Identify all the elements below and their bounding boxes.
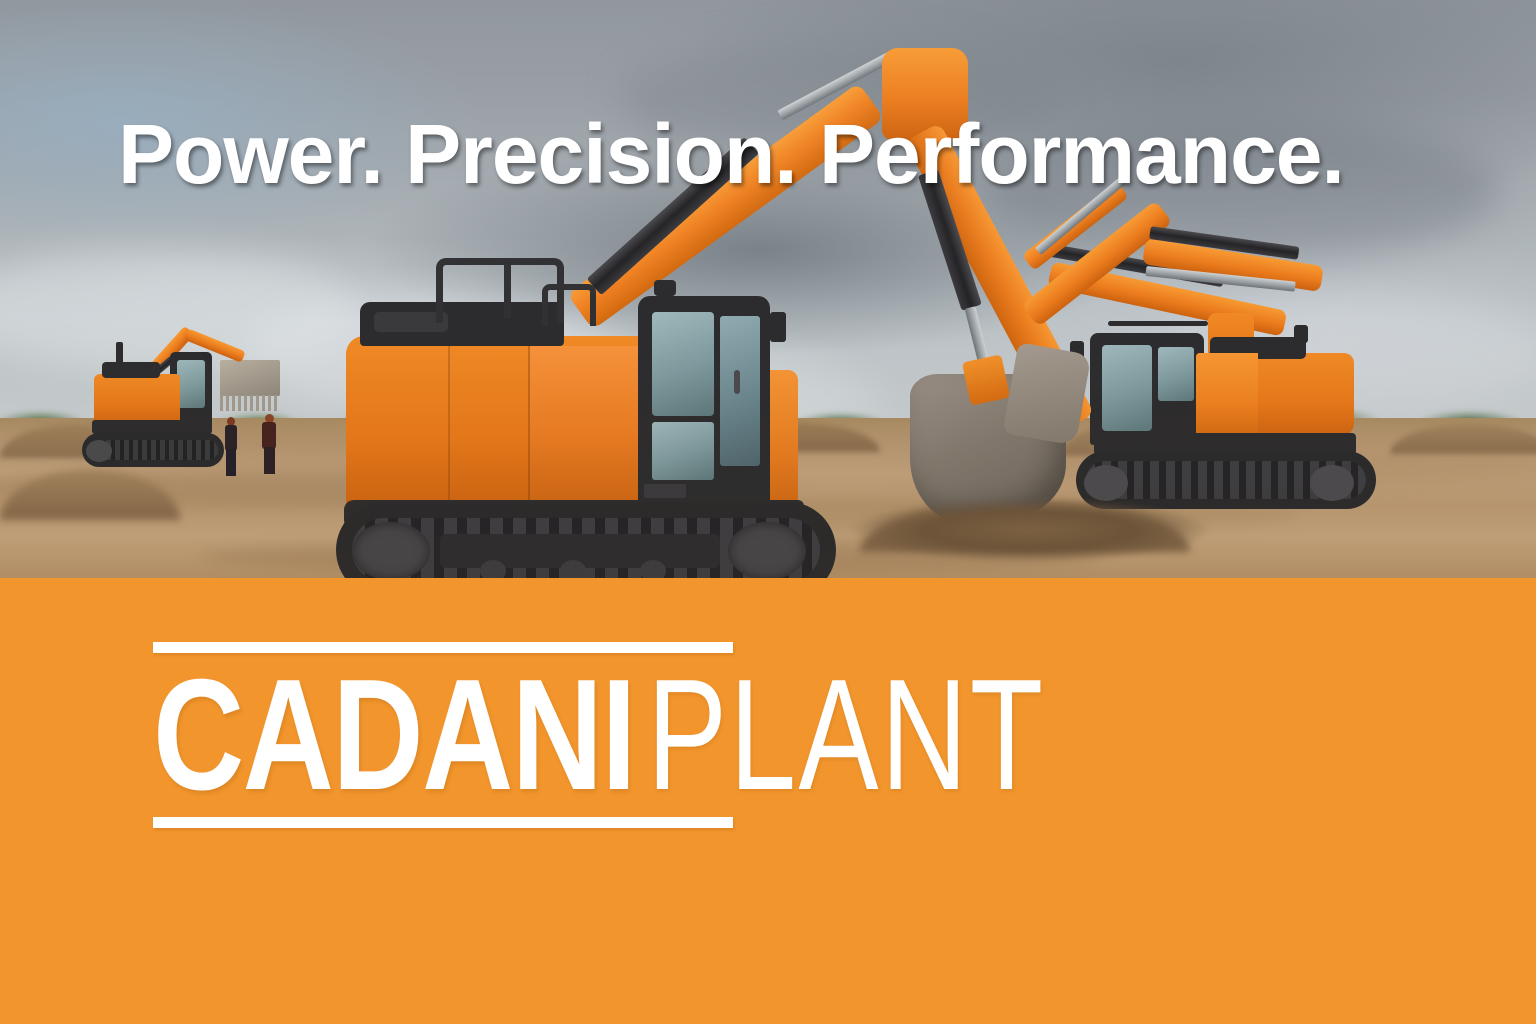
cab-mirror bbox=[770, 312, 786, 342]
site-photo bbox=[0, 0, 1536, 578]
hero-tagline: Power. Precision. Performance. bbox=[118, 112, 1344, 196]
excavated-soil bbox=[840, 500, 1220, 562]
guard-rail-extra bbox=[542, 284, 596, 326]
worker-legs bbox=[226, 449, 236, 476]
panel-seam bbox=[448, 340, 450, 512]
worker-figure bbox=[224, 417, 238, 476]
bucket-linkage bbox=[962, 354, 1010, 405]
logo-lockup: CADANI PLANT bbox=[153, 642, 1223, 828]
cab-step bbox=[644, 484, 686, 498]
cab-side-window bbox=[720, 316, 760, 466]
track-roller bbox=[480, 560, 506, 578]
cab-window bbox=[177, 360, 205, 408]
machine-body bbox=[94, 374, 180, 426]
track-sprocket bbox=[352, 522, 430, 578]
worker-torso bbox=[225, 425, 237, 451]
exhaust-stack bbox=[116, 342, 123, 364]
exhaust-stack bbox=[1294, 325, 1308, 343]
engine-cover bbox=[102, 362, 160, 378]
bucket-backplate bbox=[1003, 342, 1092, 445]
track-idler bbox=[728, 522, 806, 578]
cab-front-window bbox=[652, 312, 714, 416]
track-roller bbox=[640, 560, 666, 578]
worker-legs bbox=[264, 447, 275, 474]
cab-lower-window bbox=[652, 422, 714, 480]
worker-figure bbox=[262, 414, 277, 474]
cab-beacon bbox=[654, 280, 676, 296]
track-roller bbox=[560, 560, 586, 578]
worker-torso bbox=[262, 422, 276, 449]
cab-door-handle bbox=[734, 370, 740, 394]
guard-rail-post bbox=[504, 258, 511, 318]
brand-band: CADANI PLANT MACHINERY HIRE AND SALES bbox=[0, 578, 1536, 1024]
light-fitting bbox=[456, 310, 464, 326]
wordmark-cadani: CADANI bbox=[153, 665, 635, 805]
wordmark-plant: PLANT bbox=[647, 665, 1045, 805]
body-trim bbox=[92, 420, 212, 434]
wordmark: CADANI PLANT bbox=[153, 665, 1223, 805]
sieve-bucket bbox=[220, 360, 280, 396]
sieve-teeth bbox=[220, 395, 280, 411]
track-idler bbox=[1310, 465, 1354, 501]
panel-seam bbox=[528, 340, 530, 512]
advertisement-banner: Power. Precision. Performance. CADANI PL… bbox=[0, 0, 1536, 1024]
track-idler bbox=[86, 440, 112, 462]
